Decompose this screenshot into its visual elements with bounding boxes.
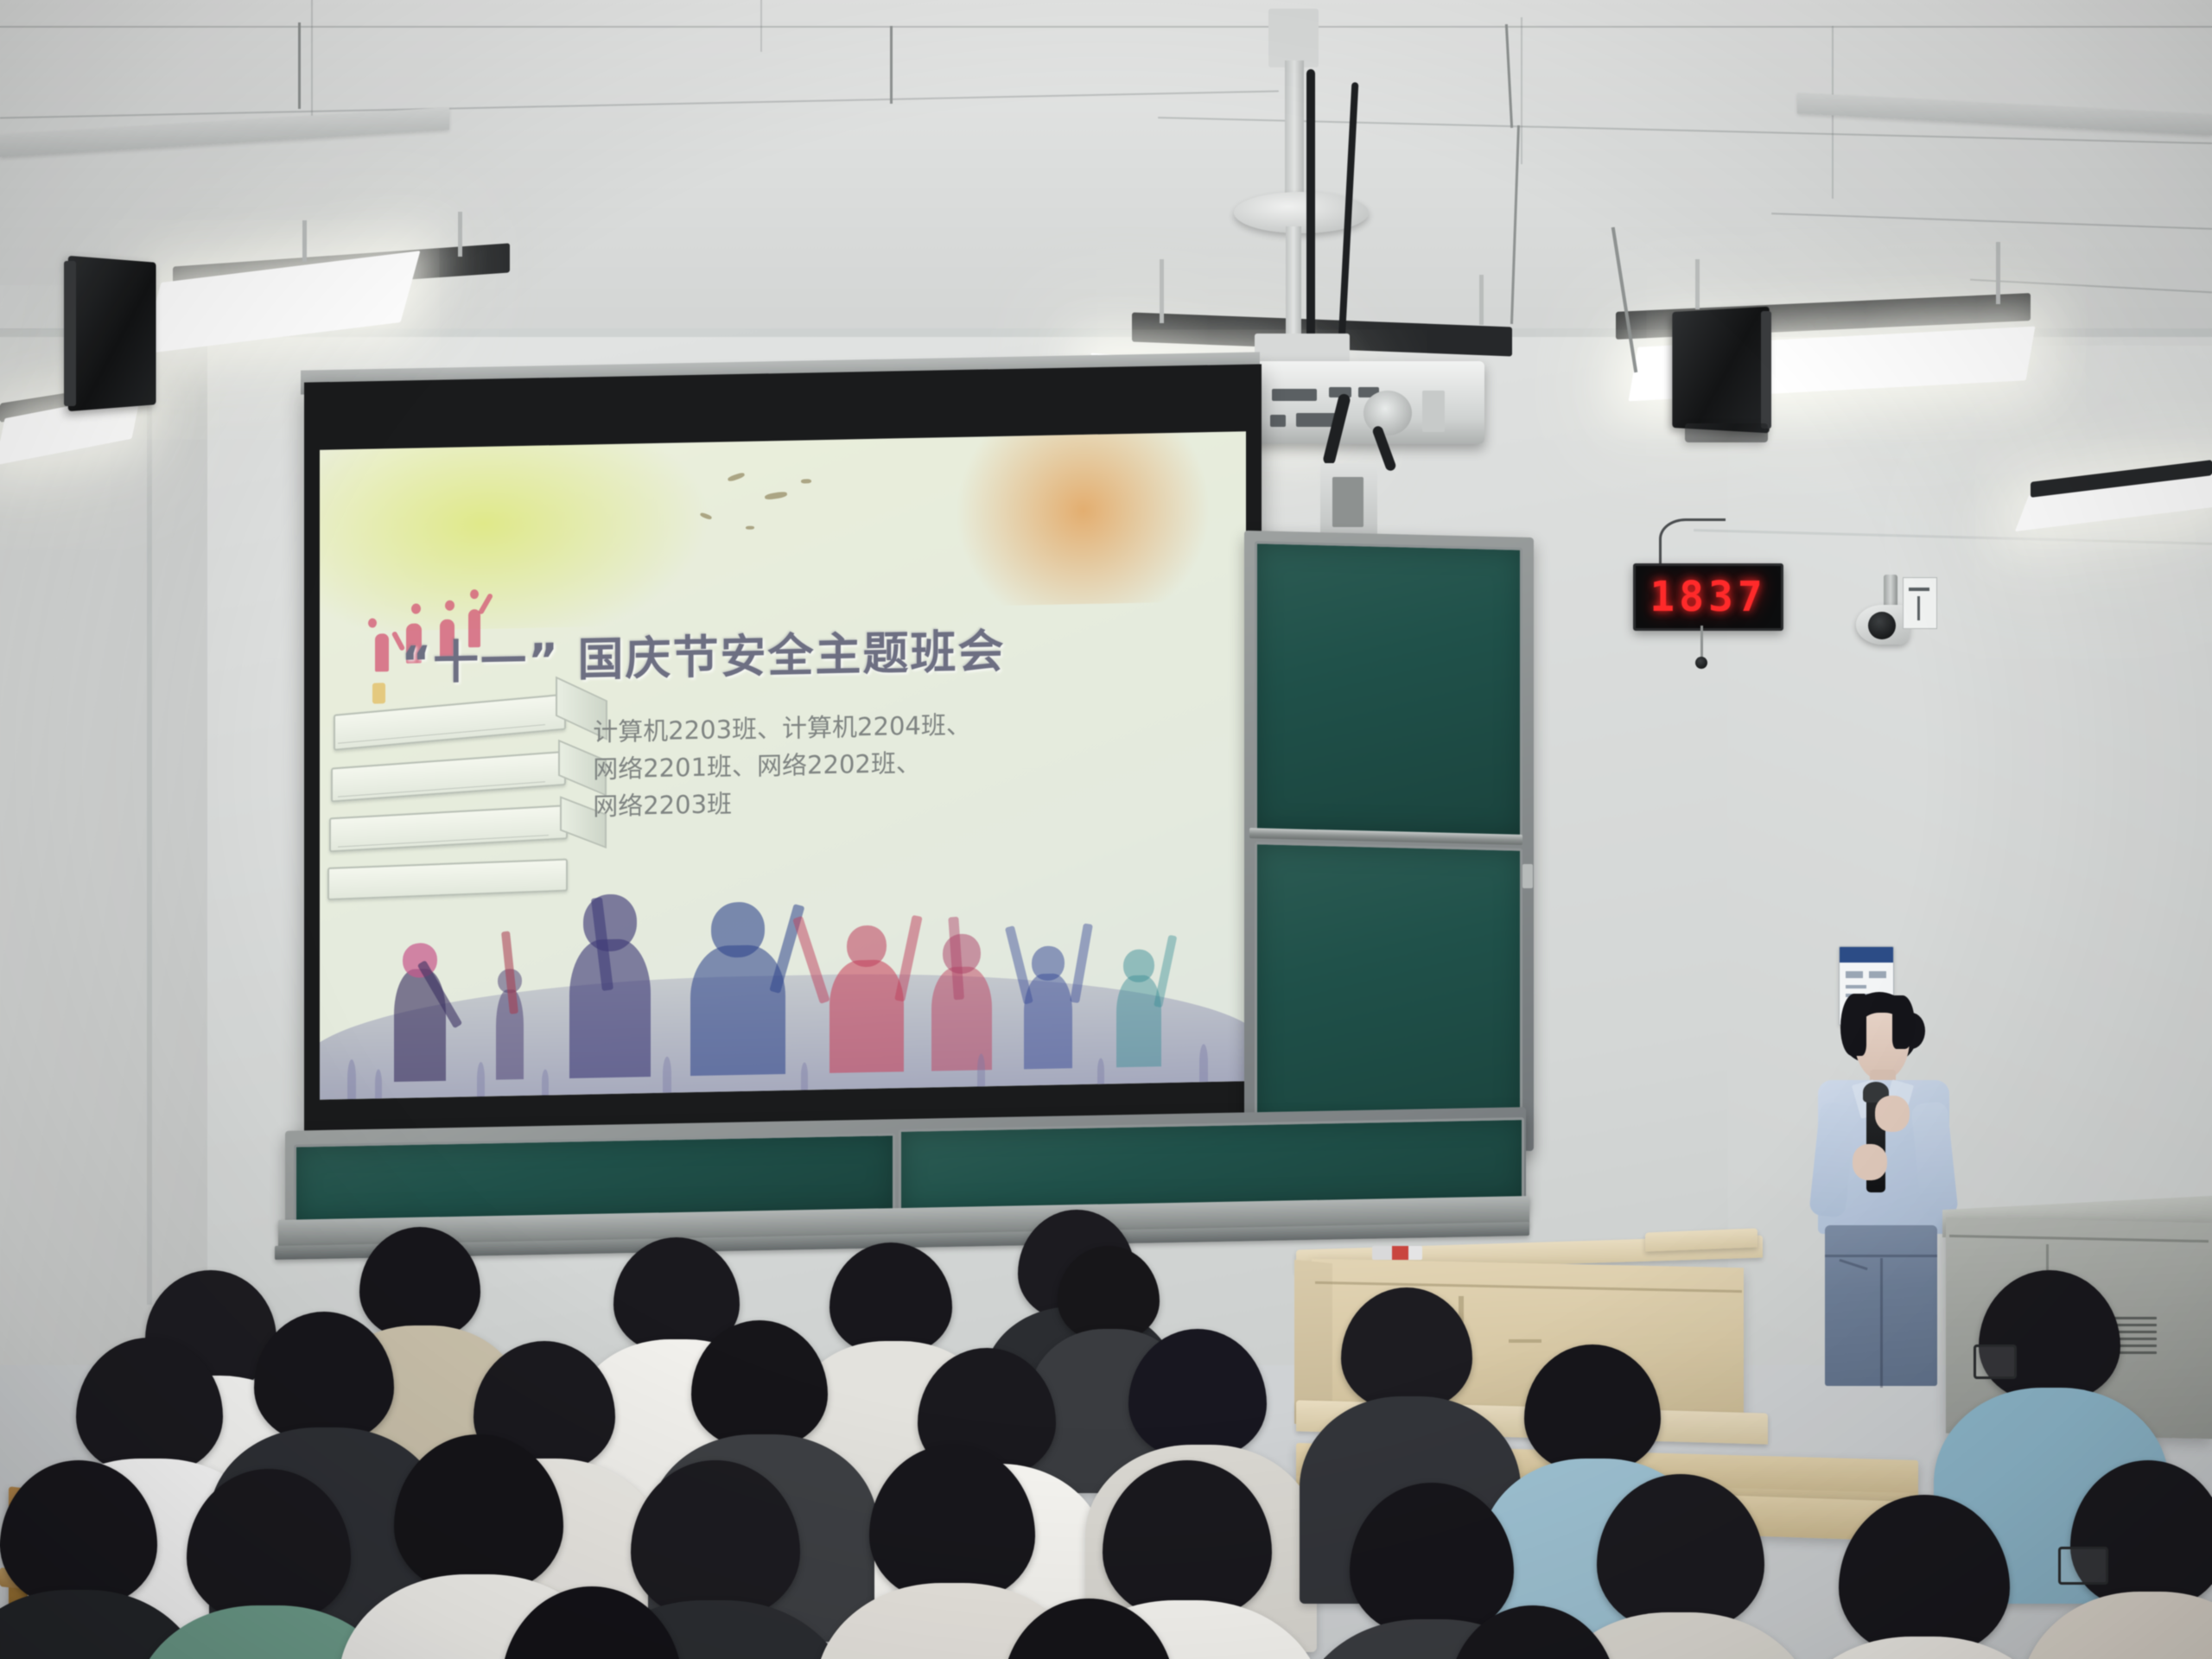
slide-figure-group	[375, 633, 389, 671]
wall-speaker-right	[1672, 307, 1769, 434]
projector-ceiling-plate	[1268, 9, 1319, 67]
wall-sign-small	[1903, 577, 1937, 629]
eyeglasses	[1974, 1344, 2017, 1379]
classroom-scene: “十一” 国庆节安全主题班会 计算机2203班、计算机2204班、 网络2201…	[0, 0, 2212, 1659]
lectern-small-object[interactable]	[1372, 1246, 1422, 1260]
clock-time: 1837	[1649, 573, 1767, 621]
slide-books-illustration	[334, 694, 566, 751]
digital-clock: 1837	[1633, 563, 1783, 631]
slide-decoration-yellow	[320, 431, 718, 632]
slide-decoration-orange	[950, 431, 1228, 606]
slide-title: “十一” 国庆节安全主题班会	[401, 615, 1005, 693]
clock-wire	[1659, 518, 1726, 569]
slide-subtitle-line-2: 网络2201班、网络2202班、	[593, 745, 921, 788]
projection-screen: “十一” 国庆节安全主题班会 计算机2203班、计算机2204班、 网络2201…	[320, 431, 1246, 1100]
blackboard-upper-panel	[1255, 541, 1522, 838]
camera-lens-icon	[1868, 612, 1896, 639]
presenter-hand-lower	[1853, 1144, 1887, 1180]
eyeglasses	[2058, 1547, 2108, 1585]
projector-cable	[1306, 69, 1315, 354]
slide-crowd-illustration	[320, 808, 1246, 1099]
blackboard-lower-panel	[1255, 842, 1522, 1139]
projector-pole	[1285, 60, 1304, 207]
wall-speaker-left	[68, 256, 156, 411]
presenter-hand-upper	[1875, 1096, 1910, 1132]
